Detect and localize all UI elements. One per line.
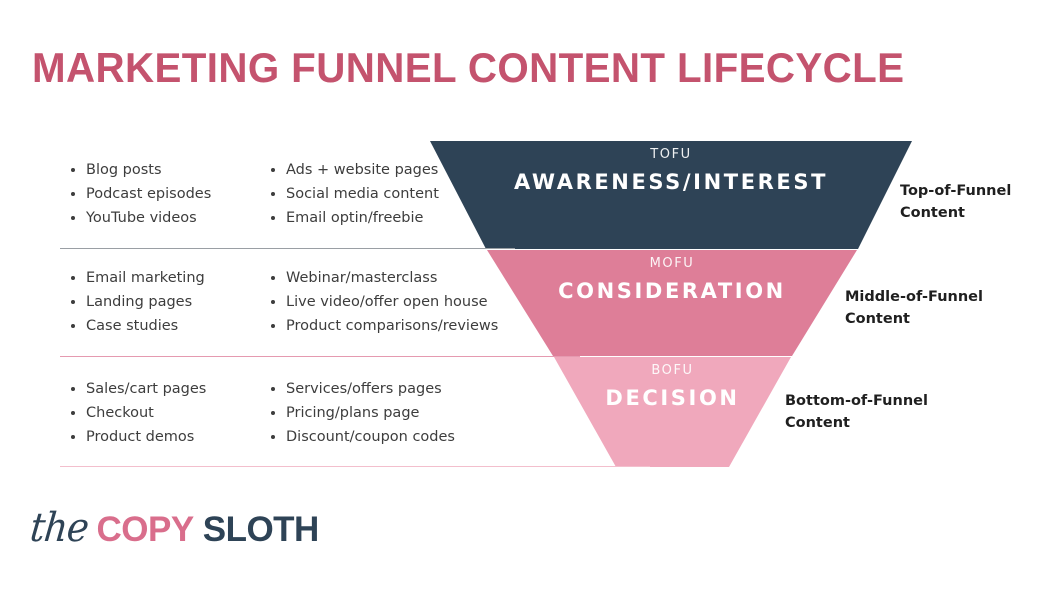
- stage-abbr-tofu: TOFU: [430, 147, 912, 162]
- list-item: Blog posts: [68, 158, 268, 182]
- list-item: Email marketing: [68, 266, 268, 290]
- side-label-tofu-line1: Top-of-Funnel: [900, 180, 1011, 202]
- list-item: Discount/coupon codes: [268, 425, 488, 449]
- list-item: Live video/offer open house: [268, 290, 508, 314]
- bullet-column-bofu-2: Services/offers pages Pricing/plans page…: [268, 377, 488, 449]
- bullet-column-mofu-1: Email marketing Landing pages Case studi…: [68, 266, 268, 338]
- logo-navy-word: SLOTH: [194, 510, 319, 550]
- list-item: Webinar/masterclass: [268, 266, 508, 290]
- list-item: Sales/cart pages: [68, 377, 268, 401]
- list-item: Case studies: [68, 314, 268, 338]
- funnel-label-tofu: TOFU AWARENESS/INTEREST: [430, 147, 912, 194]
- list-item: Podcast episodes: [68, 182, 268, 206]
- stage-name-mofu: CONSIDERATION: [487, 279, 857, 303]
- stage-abbr-bofu: BOFU: [554, 363, 791, 378]
- list-item: Checkout: [68, 401, 268, 425]
- bullet-group-bofu: Sales/cart pages Checkout Product demos …: [68, 377, 488, 449]
- logo-pink-word: COPY: [97, 510, 194, 550]
- bullet-column-bofu-1: Sales/cart pages Checkout Product demos: [68, 377, 268, 449]
- bullet-group-mofu: Email marketing Landing pages Case studi…: [68, 266, 508, 338]
- slide-canvas: MARKETING FUNNEL CONTENT LIFECYCLE Blog …: [0, 0, 1050, 600]
- bullet-group-tofu: Blog posts Podcast episodes YouTube vide…: [68, 158, 468, 230]
- divider-mofu-bofu: [60, 356, 580, 357]
- funnel-label-bofu: BOFU DECISION: [554, 363, 791, 410]
- list-item: Product demos: [68, 425, 268, 449]
- side-label-mofu-line1: Middle-of-Funnel: [845, 286, 983, 308]
- funnel-label-mofu: MOFU CONSIDERATION: [487, 256, 857, 303]
- list-item: YouTube videos: [68, 206, 268, 230]
- stage-name-tofu: AWARENESS/INTEREST: [430, 170, 912, 194]
- list-item: Landing pages: [68, 290, 268, 314]
- page-title: MARKETING FUNNEL CONTENT LIFECYCLE: [32, 44, 904, 92]
- list-item: Pricing/plans page: [268, 401, 488, 425]
- list-item: Services/offers pages: [268, 377, 488, 401]
- side-label-bofu: Bottom-of-Funnel Content: [785, 390, 928, 434]
- list-item: Email optin/freebie: [268, 206, 468, 230]
- side-label-bofu-line1: Bottom-of-Funnel: [785, 390, 928, 412]
- stage-abbr-mofu: MOFU: [487, 256, 857, 271]
- bullet-column-tofu-1: Blog posts Podcast episodes YouTube vide…: [68, 158, 268, 230]
- list-item: Product comparisons/reviews: [268, 314, 508, 338]
- divider-bofu-bottom: [60, 466, 650, 467]
- bullet-column-mofu-2: Webinar/masterclass Live video/offer ope…: [268, 266, 508, 338]
- side-label-tofu-line2: Content: [900, 202, 1011, 224]
- side-label-bofu-line2: Content: [785, 412, 928, 434]
- logo-script-word: the: [28, 505, 96, 551]
- stage-name-bofu: DECISION: [554, 386, 791, 410]
- brand-logo: the COPY SLOTH: [28, 505, 319, 551]
- side-label-mofu: Middle-of-Funnel Content: [845, 286, 983, 330]
- side-label-mofu-line2: Content: [845, 308, 983, 330]
- side-label-tofu: Top-of-Funnel Content: [900, 180, 1011, 224]
- divider-tofu-mofu: [60, 248, 515, 249]
